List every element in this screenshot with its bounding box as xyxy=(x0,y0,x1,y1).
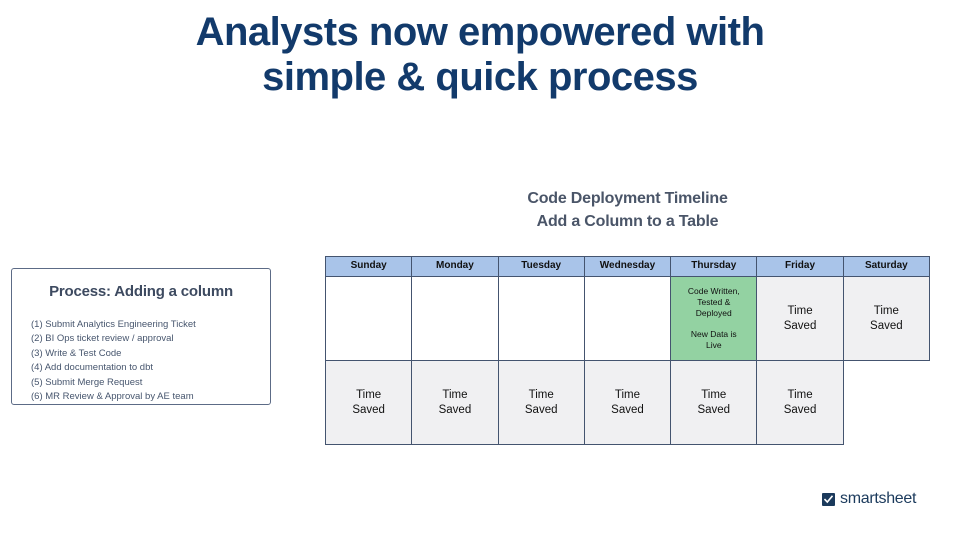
time-saved-line-2: Saved xyxy=(759,403,840,417)
column-header-saturday: Saturday xyxy=(843,257,929,277)
column-header-monday: Monday xyxy=(412,257,498,277)
column-header-wednesday: Wednesday xyxy=(584,257,670,277)
time-saved-line-1: Time xyxy=(673,388,754,402)
page-title-line-2: simple & quick process xyxy=(120,55,840,100)
cell-monday-row2: Time Saved xyxy=(412,361,498,445)
time-saved-line-2: Saved xyxy=(587,403,668,417)
list-item: (3) Write & Test Code xyxy=(31,347,260,361)
checkbox-check-icon xyxy=(822,493,835,506)
timeline-heading-line-2: Add a Column to a Table xyxy=(325,211,930,234)
cell-saturday-row2 xyxy=(843,361,929,445)
time-saved-line-1: Time xyxy=(846,304,927,318)
time-saved-line-1: Time xyxy=(501,388,582,402)
cell-tuesday-row1 xyxy=(498,277,584,361)
column-header-sunday: Sunday xyxy=(326,257,412,277)
table-row: Code Written, Tested & Deployed New Data… xyxy=(326,277,930,361)
cell-friday-row1: Time Saved xyxy=(757,277,843,361)
code-deployment-timeline-table: Sunday Monday Tuesday Wednesday Thursday… xyxy=(325,256,930,445)
time-saved-line-1: Time xyxy=(759,388,840,402)
list-item: (2) BI Ops ticket review / approval xyxy=(31,332,260,346)
deploy-text-line-5: Live xyxy=(673,340,754,351)
cell-wednesday-row1 xyxy=(584,277,670,361)
time-saved-line-1: Time xyxy=(328,388,409,402)
list-item: (4) Add documentation to dbt xyxy=(31,361,260,375)
process-box-heading: Process: Adding a column xyxy=(22,283,260,300)
deploy-text-line-1: Code Written, xyxy=(673,286,754,297)
cell-friday-row2: Time Saved xyxy=(757,361,843,445)
time-saved-line-2: Saved xyxy=(673,403,754,417)
table-body: Code Written, Tested & Deployed New Data… xyxy=(326,277,930,445)
cell-sunday-row2: Time Saved xyxy=(326,361,412,445)
list-item: (1) Submit Analytics Engineering Ticket xyxy=(31,318,260,332)
smartsheet-wordmark: smartsheet xyxy=(840,491,916,507)
cell-monday-row1 xyxy=(412,277,498,361)
table-header: Sunday Monday Tuesday Wednesday Thursday… xyxy=(326,257,930,277)
cell-thursday-row1: Code Written, Tested & Deployed New Data… xyxy=(671,277,757,361)
timeline-heading: Code Deployment Timeline Add a Column to… xyxy=(325,188,930,233)
column-header-thursday: Thursday xyxy=(671,257,757,277)
cell-sunday-row1 xyxy=(326,277,412,361)
cell-tuesday-row2: Time Saved xyxy=(498,361,584,445)
page-title-line-1: Analysts now empowered with xyxy=(120,10,840,55)
smartsheet-logo: smartsheet xyxy=(822,491,916,507)
table-row: Time Saved Time Saved Time Saved Time Sa… xyxy=(326,361,930,445)
list-item: (6) MR Review & Approval by AE team xyxy=(31,390,260,404)
deploy-text-spacer xyxy=(673,320,754,329)
list-item: (5) Submit Merge Request xyxy=(31,376,260,390)
time-saved-line-1: Time xyxy=(759,304,840,318)
table-header-row: Sunday Monday Tuesday Wednesday Thursday… xyxy=(326,257,930,277)
process-step-list: (1) Submit Analytics Engineering Ticket … xyxy=(22,318,260,405)
deploy-text-line-3: Deployed xyxy=(673,308,754,319)
cell-wednesday-row2: Time Saved xyxy=(584,361,670,445)
time-saved-line-2: Saved xyxy=(759,319,840,333)
time-saved-line-2: Saved xyxy=(328,403,409,417)
process-box: Process: Adding a column (1) Submit Anal… xyxy=(11,268,271,405)
page-title: Analysts now empowered with simple & qui… xyxy=(120,10,840,100)
cell-thursday-row2: Time Saved xyxy=(671,361,757,445)
time-saved-line-1: Time xyxy=(587,388,668,402)
column-header-friday: Friday xyxy=(757,257,843,277)
time-saved-line-1: Time xyxy=(414,388,495,402)
time-saved-line-2: Saved xyxy=(414,403,495,417)
deploy-text-line-4: New Data is xyxy=(673,329,754,340)
time-saved-line-2: Saved xyxy=(501,403,582,417)
column-header-tuesday: Tuesday xyxy=(498,257,584,277)
timeline-heading-line-1: Code Deployment Timeline xyxy=(325,188,930,211)
cell-saturday-row1: Time Saved xyxy=(843,277,929,361)
deploy-text-line-2: Tested & xyxy=(673,297,754,308)
time-saved-line-2: Saved xyxy=(846,319,927,333)
